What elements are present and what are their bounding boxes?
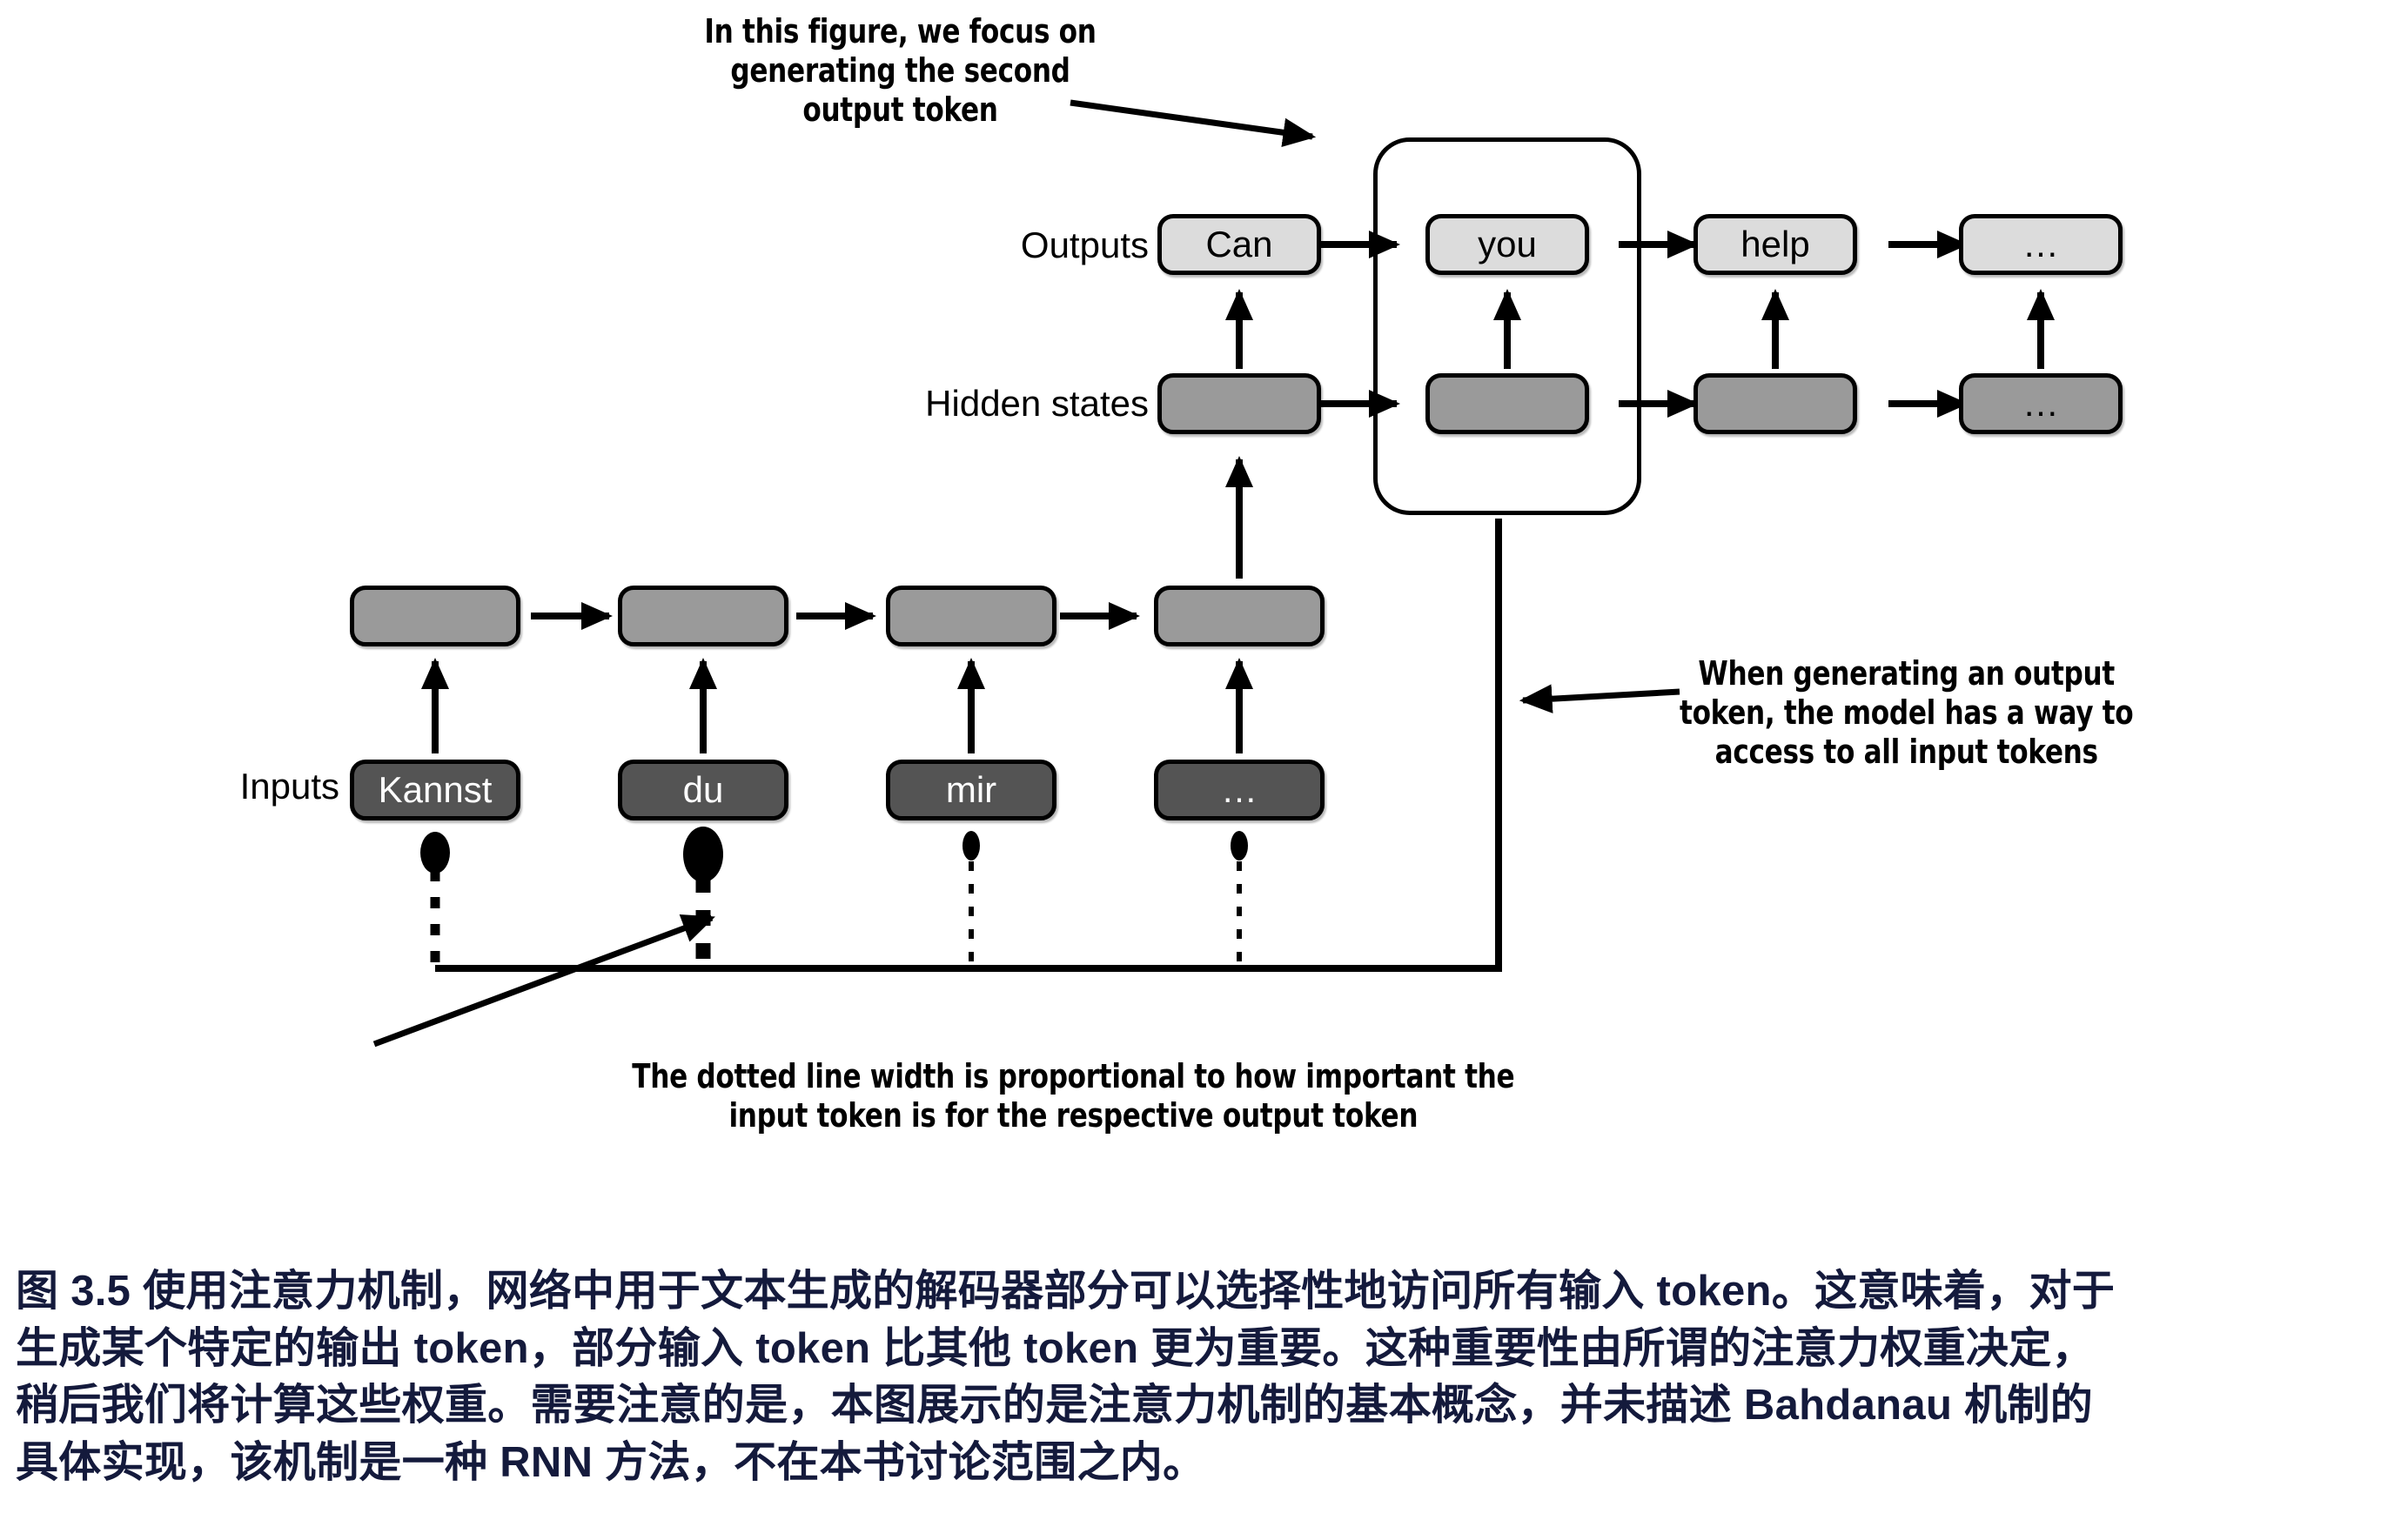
row-label-hidden-states: Hidden states — [687, 383, 1149, 425]
attention-line-ellipsis — [1231, 831, 1248, 968]
input-token-box[interactable]: mir — [886, 760, 1056, 820]
decoder-hidden-state-box[interactable] — [1425, 373, 1589, 434]
output-token-box[interactable]: help — [1694, 214, 1857, 275]
decoder-hidden-state-box[interactable] — [1694, 373, 1857, 434]
leader-access — [1523, 692, 1680, 700]
callout-access-note: When generating an output token, the mod… — [1680, 654, 2133, 771]
encoder-hidden-state-box[interactable] — [886, 586, 1056, 646]
caption-line-1: 图 3.5 使用注意力机制，网络中用于文本生成的解码器部分可以选择性地访问所有输… — [16, 1263, 2365, 1321]
callout-dotted-line-note: The dotted line width is proportional to… — [632, 1057, 1514, 1135]
attention-line-mir — [962, 831, 980, 968]
output-token-box[interactable]: … — [1959, 214, 2123, 275]
input-token-box[interactable]: … — [1154, 760, 1325, 820]
output-token-box[interactable]: Can — [1157, 214, 1321, 275]
caption-line-3: 稍后我们将计算这些权重。需要注意的是，本图展示的是注意力机制的基本概念，并未描述… — [16, 1377, 2365, 1435]
output-token-box[interactable]: you — [1425, 214, 1589, 275]
callout-focus-note: In this figure, we focus on generating t… — [704, 12, 1096, 129]
attention-line-kannst — [420, 832, 450, 968]
decoder-hidden-state-box[interactable]: … — [1959, 373, 2123, 434]
leader-focus — [1070, 103, 1312, 137]
caption-line-4: 具体实现，该机制是一种 RNN 方法，不在本书讨论范围之内。 — [16, 1435, 2365, 1492]
input-token-box[interactable]: du — [618, 760, 788, 820]
row-label-outputs: Outputs — [748, 224, 1149, 266]
encoder-hidden-state-box[interactable] — [1154, 586, 1325, 646]
encoder-hidden-state-box[interactable] — [350, 586, 520, 646]
leader-dotted — [374, 918, 712, 1044]
callout-focus-line-2: generating the second — [704, 51, 1096, 90]
callout-dotted-line-1: The dotted line width is proportional to… — [632, 1057, 1514, 1096]
attention-line-du — [683, 827, 723, 968]
attention-diagram: In this figure, we focus on generating t… — [0, 0, 2381, 1218]
second-token-highlight-frame — [1373, 137, 1641, 515]
callout-access-line-2: token, the model has a way to — [1680, 693, 2133, 733]
callout-access-line-1: When generating an output — [1680, 654, 2133, 693]
input-token-box[interactable]: Kannst — [350, 760, 520, 820]
callout-focus-line-3: output token — [704, 90, 1096, 130]
callout-dotted-line-2: input token is for the respective output… — [632, 1096, 1514, 1135]
callout-access-line-3: access to all input tokens — [1680, 733, 2133, 772]
encoder-hidden-state-box[interactable] — [618, 586, 788, 646]
figure-page: In this figure, we focus on generating t… — [0, 0, 2381, 1540]
figure-caption: 图 3.5 使用注意力机制，网络中用于文本生成的解码器部分可以选择性地访问所有输… — [16, 1263, 2365, 1492]
decoder-hidden-state-box[interactable] — [1157, 373, 1321, 434]
row-label-inputs: Inputs — [96, 766, 339, 807]
callout-focus-line-1: In this figure, we focus on — [704, 12, 1096, 51]
caption-line-2: 生成某个特定的输出 token，部分输入 token 比其他 token 更为重… — [16, 1321, 2365, 1378]
